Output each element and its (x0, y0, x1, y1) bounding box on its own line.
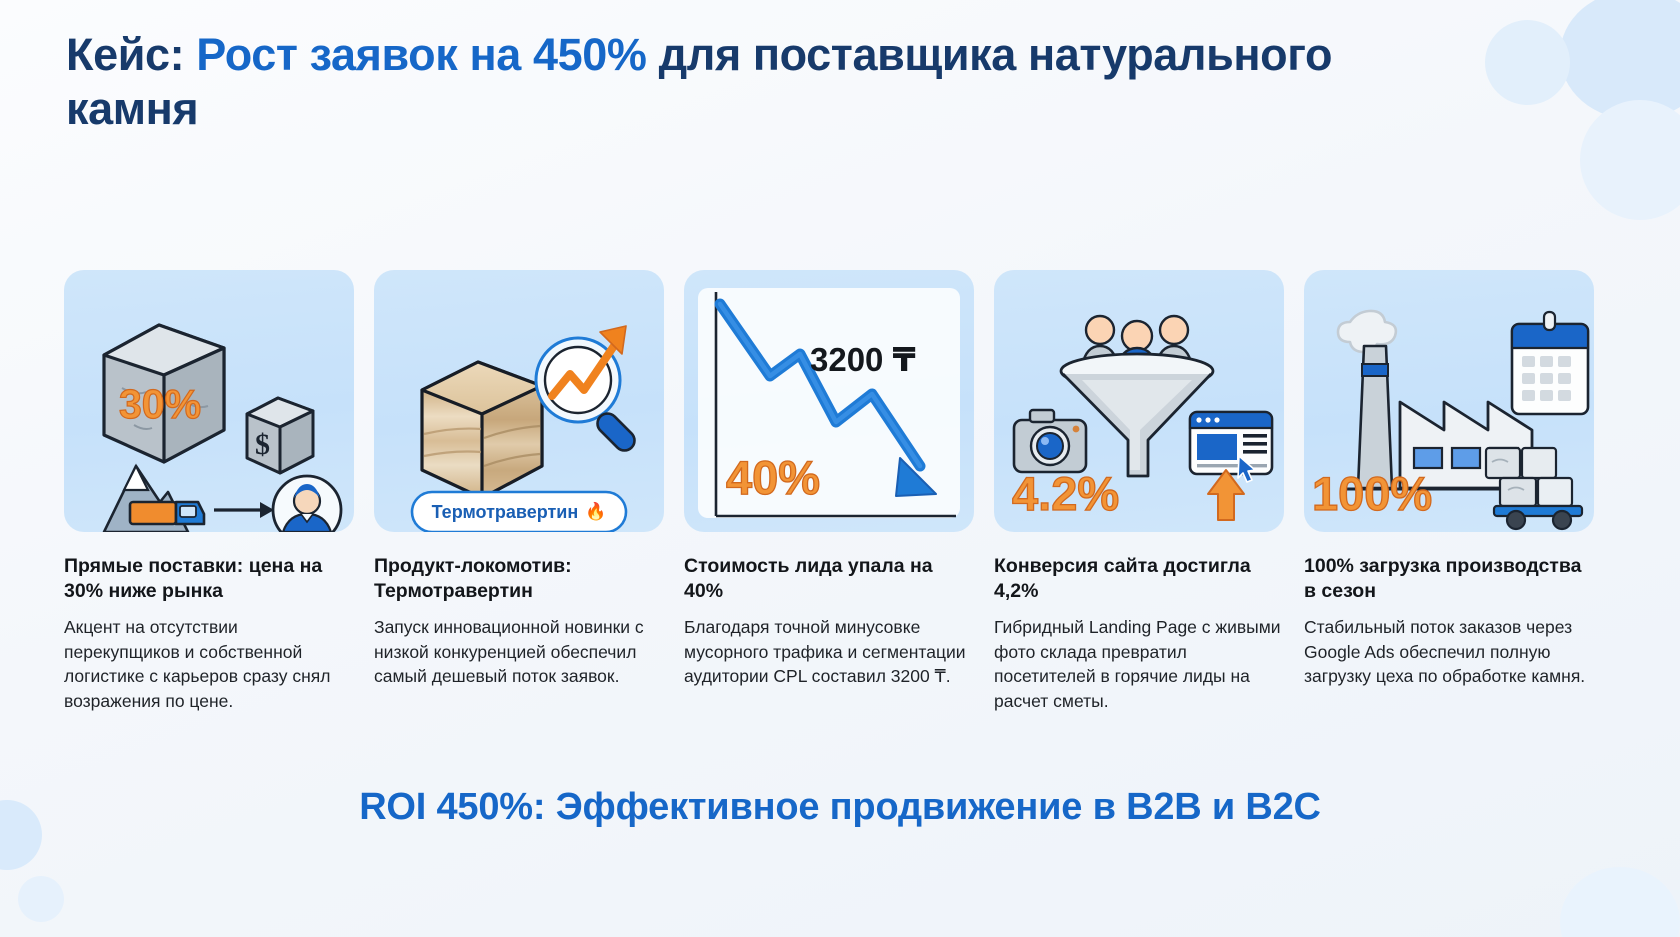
card-body: Благодаря точной минусовке мусорного тра… (684, 615, 974, 690)
stat-conversion-percent: 4.2% (1012, 466, 1119, 521)
card-production-load[interactable]: 100% 100% загрузка производства в сезон … (1304, 270, 1594, 714)
stat-100-percent: 100% (1312, 466, 1432, 521)
footer-banner: ROI 450%: Эффективное продвижение в B2B … (0, 786, 1680, 829)
card-body: Запуск инновационной новинки с низкой ко… (374, 615, 664, 690)
title-prefix: Кейс: (66, 29, 196, 80)
camera-icon (1014, 410, 1086, 472)
stat-40-percent: 40% (726, 450, 820, 505)
card-title: Прямые поставки: цена на 30% ниже рынка (64, 554, 354, 605)
card-title: Стоимость лида упала на 40% (684, 554, 974, 605)
decorative-blob (1580, 100, 1680, 220)
calendar-icon (1512, 312, 1588, 414)
card-body: Гибридный Landing Page с живыми фото скл… (994, 615, 1284, 714)
chart-value-label: 3200 ₸ (810, 340, 916, 379)
decorative-blob (1560, 0, 1680, 120)
arrow-right-icon (214, 502, 274, 518)
card-visual-lead-cost: 3200 ₸ 40% (684, 270, 974, 532)
direct-supply-illustration: 30% $ (64, 270, 354, 532)
footer-text: ROI 450%: Эффективное продвижение в B2B … (359, 786, 1321, 828)
svg-text:$: $ (255, 428, 270, 461)
card-site-conversion[interactable]: 4.2% Конверсия сайта достигла 4,2% Гибри… (994, 270, 1284, 714)
card-direct-supply[interactable]: 30% $ (64, 270, 354, 714)
dump-truck-icon (130, 502, 204, 524)
card-visual-production-load: 100% (1304, 270, 1594, 532)
badge-label: Термотравертин (432, 502, 579, 523)
card-visual-direct-supply: 30% $ (64, 270, 354, 532)
product-badge-content: Термотравертин 🔥 (412, 492, 626, 532)
card-visual-site-conversion: 4.2% (994, 270, 1284, 532)
page-header: Кейс: Рост заявок на 450% для поставщика… (66, 28, 1366, 136)
stone-blocks-icon (1486, 448, 1572, 506)
card-visual-locomotive-product: Термотравертин 🔥 (374, 270, 664, 532)
stat-30-percent: 30% (119, 381, 201, 427)
delivery-truck-icon (1486, 448, 1582, 529)
card-lead-cost[interactable]: 3200 ₸ 40% Стоимость лида упала на 40% Б… (684, 270, 974, 714)
dollar-cube-icon: $ (247, 398, 313, 473)
card-title: Продукт-локомотив: Термотравертин (374, 554, 664, 605)
travertine-cube-icon (422, 362, 542, 498)
card-title: 100% загрузка производства в сезон (1304, 554, 1594, 605)
card-locomotive-product[interactable]: Термотравертин 🔥 Продукт-локомотив: Терм… (374, 270, 664, 714)
cards-row: 30% $ (64, 270, 1620, 714)
browser-window-icon (1190, 412, 1272, 482)
page-title: Кейс: Рост заявок на 450% для поставщика… (66, 28, 1366, 136)
title-highlight: Рост заявок на 450% (196, 29, 646, 80)
decorative-blob (18, 876, 64, 922)
customer-avatar-icon (273, 476, 341, 532)
decorative-blob (1485, 20, 1570, 105)
card-title: Конверсия сайта достигла 4,2% (994, 554, 1284, 605)
card-body: Стабильный поток заказов через Google Ad… (1304, 615, 1594, 690)
infographic-root: Кейс: Рост заявок на 450% для поставщика… (0, 0, 1680, 937)
card-body: Акцент на отсутствии перекупщиков и собс… (64, 615, 354, 714)
fire-icon: 🔥 (585, 502, 606, 522)
decorative-blob (1560, 867, 1680, 937)
